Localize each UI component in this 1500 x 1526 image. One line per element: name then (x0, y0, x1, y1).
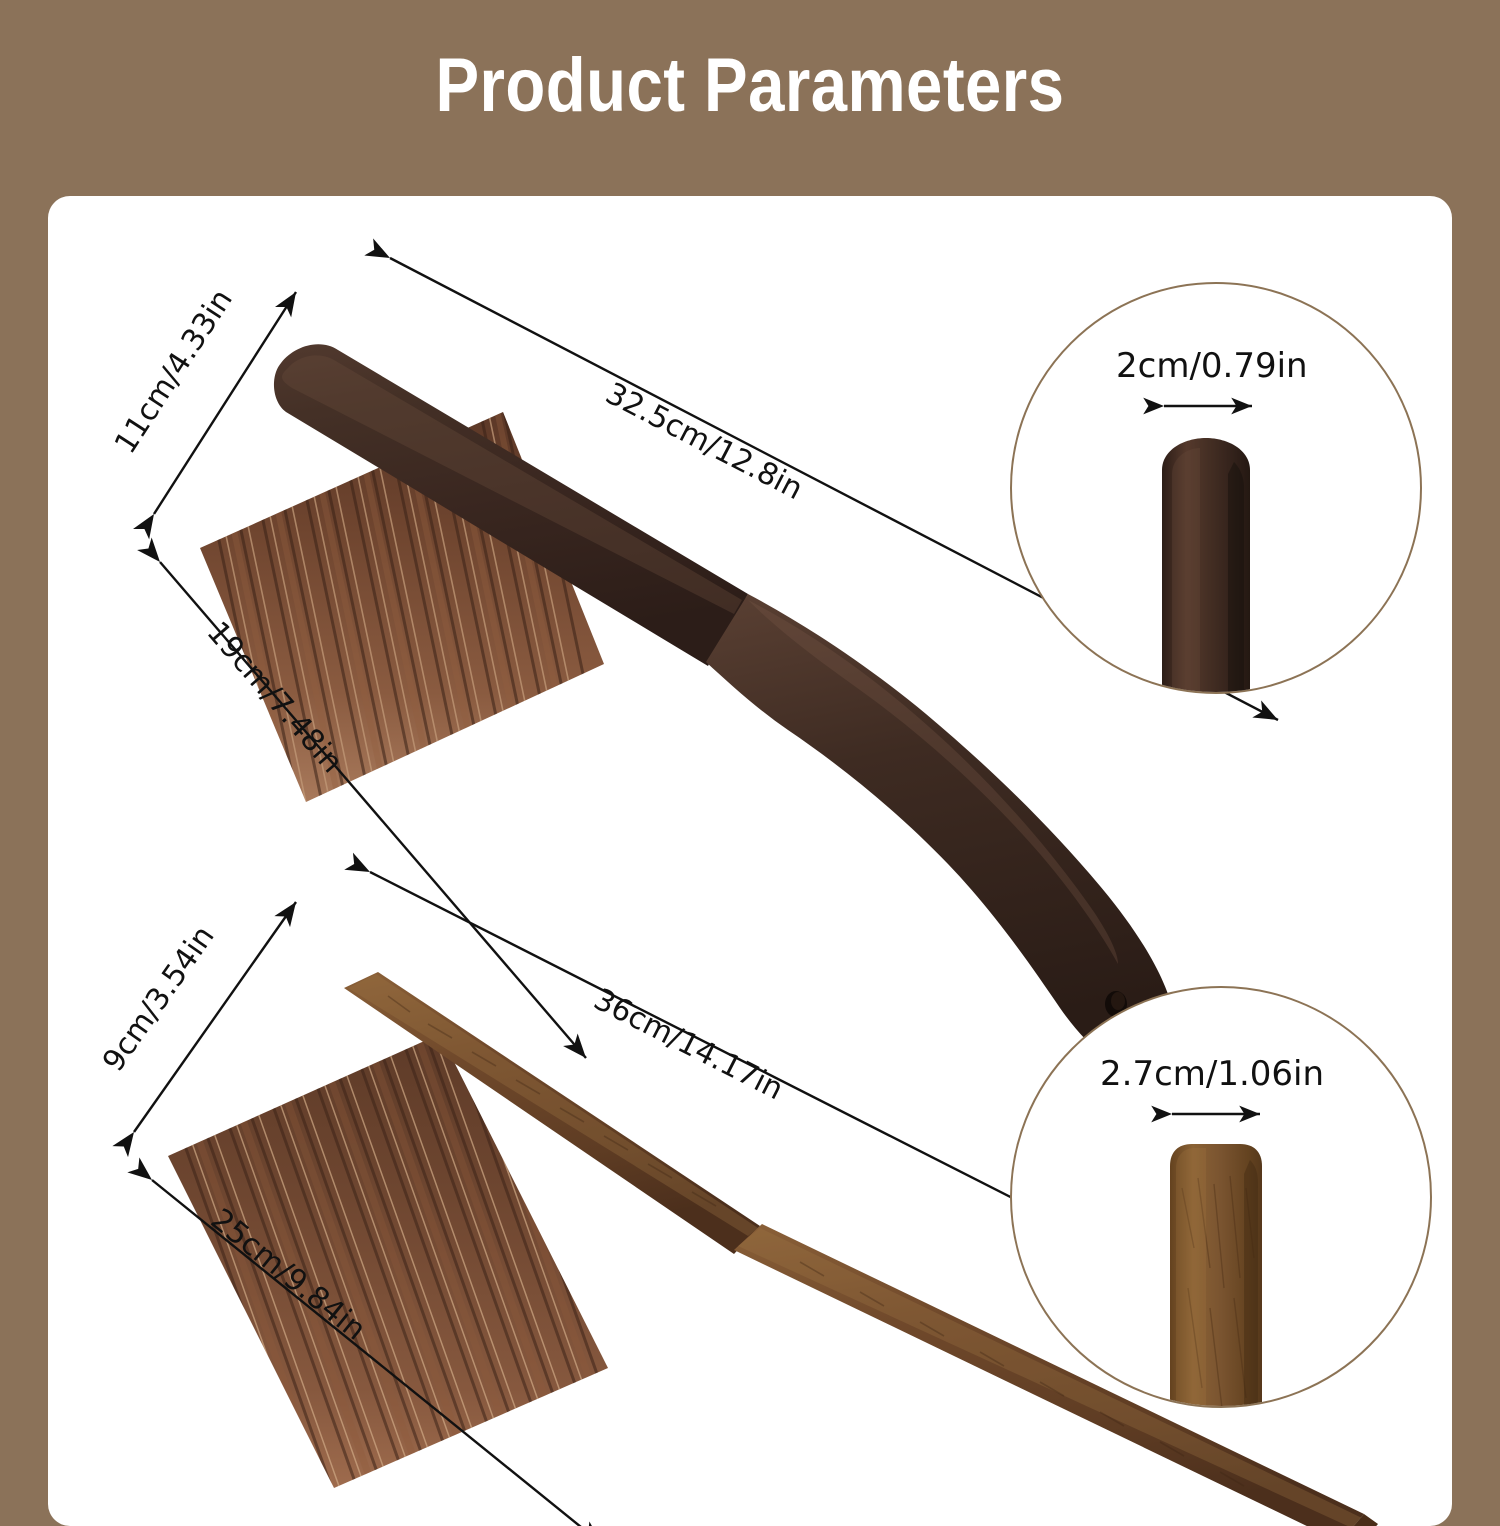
detail-inset-handle-tip-1: 2cm/0.79in (1010, 282, 1422, 694)
detail-label-handle-tip-2: 2.7cm/1.06in (1100, 1054, 1324, 1094)
detail-inset-handle-tip-2: 2.7cm/1.06in (1010, 986, 1432, 1408)
detail-label-handle-tip-1: 2cm/0.79in (1116, 346, 1308, 386)
infographic-root: Product Parameters (0, 0, 1500, 1500)
handle-tip-2-drawing (1012, 988, 1430, 1406)
content-card: 11cm/4.33in 19cm/7.48in 32.5cm/12.8in 9c… (48, 196, 1452, 1526)
page-title: Product Parameters (105, 46, 1395, 126)
